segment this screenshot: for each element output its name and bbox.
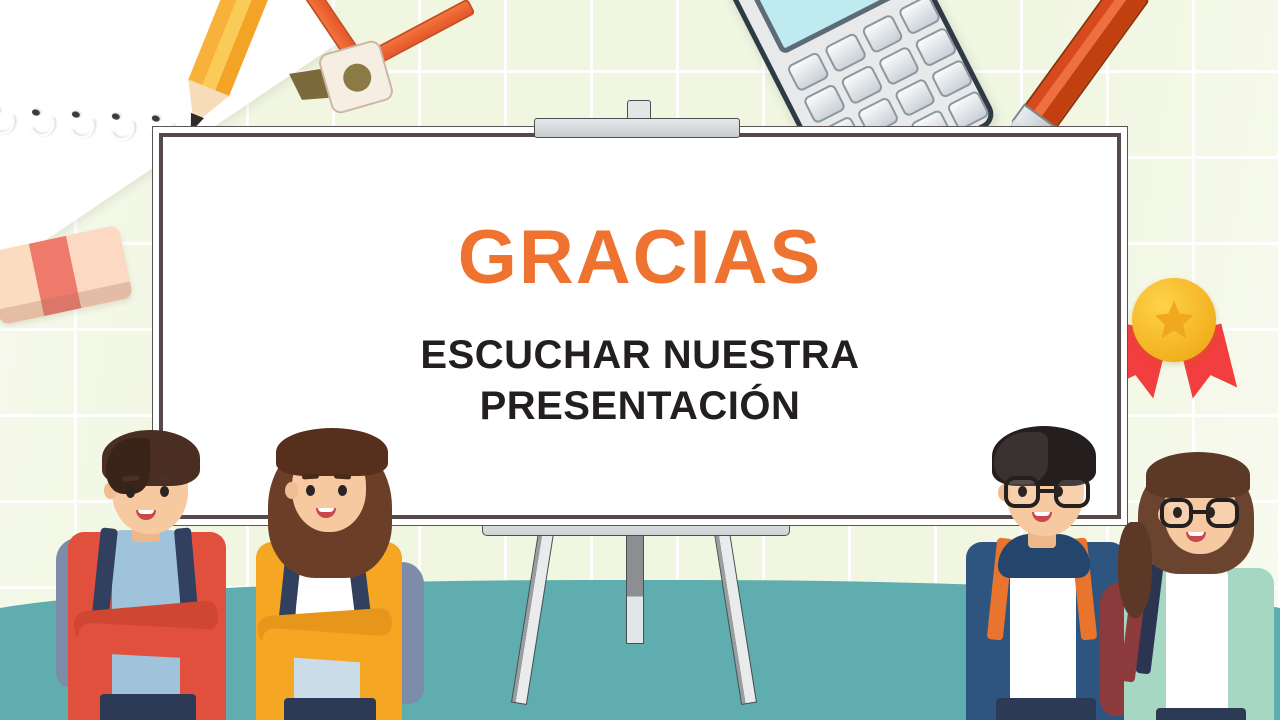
student-girl-orange-cardigan (232, 412, 432, 720)
student-boy-red-jacket (60, 420, 260, 720)
presentation-slide: GRACIAS ESCUCHAR NUESTRA PRESENTACIÓN (0, 0, 1280, 720)
student-girl-mint-hoodie (1112, 436, 1280, 720)
students-group (0, 0, 1280, 720)
